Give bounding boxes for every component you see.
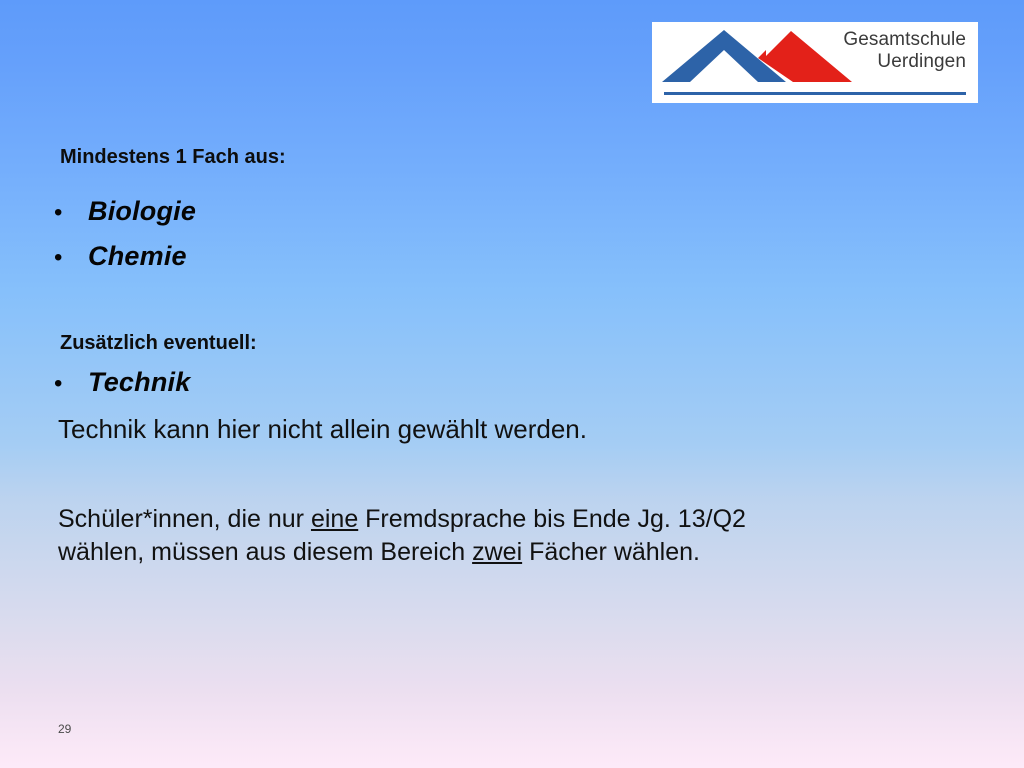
school-logo: Gesamtschule Uerdingen [652, 22, 978, 103]
bullet-icon: • [54, 201, 88, 225]
heading-additionally-possible: Zusätzlich eventuell: [60, 332, 257, 355]
list-item-biologie: • Biologie [54, 196, 196, 227]
paragraph-emphasis-eine: eine [311, 505, 358, 533]
paragraph-line-1-part-b: Fremdsprache bis Ende Jg. 13/Q2 [358, 505, 746, 533]
logo-wordmark-line-1: Gesamtschule [766, 29, 966, 51]
list-item-label: Technik [88, 367, 190, 398]
bullet-icon: • [54, 246, 88, 270]
paragraph-language-requirement: Schüler*innen, die nur eine Fremdsprache… [58, 503, 958, 569]
list-item-chemie: • Chemie [54, 241, 187, 272]
paragraph-line-2-part-b: Fächer wählen. [522, 538, 700, 566]
note-technik-restriction: Technik kann hier nicht allein gewählt w… [58, 414, 587, 445]
logo-divider-rule [664, 92, 966, 95]
logo-wordmark-line-2: Uerdingen [766, 51, 966, 73]
logo-wordmark: Gesamtschule Uerdingen [766, 29, 966, 73]
heading-minimum-one-subject: Mindestens 1 Fach aus: [60, 146, 286, 169]
paragraph-emphasis-zwei: zwei [472, 538, 522, 566]
bullet-icon: • [54, 372, 88, 396]
list-item-label: Biologie [88, 196, 196, 227]
list-item-label: Chemie [88, 241, 187, 272]
paragraph-line-1: Schüler*innen, die nur eine Fremdsprache… [58, 503, 958, 536]
slide: Gesamtschule Uerdingen Mindestens 1 Fach… [0, 0, 1024, 768]
paragraph-line-1-part-a: Schüler*innen, die nur [58, 505, 311, 533]
page-number: 29 [58, 722, 71, 736]
paragraph-line-2-part-a: wählen, müssen aus diesem Bereich [58, 538, 472, 566]
list-item-technik: • Technik [54, 367, 190, 398]
paragraph-line-2: wählen, müssen aus diesem Bereich zwei F… [58, 536, 958, 569]
